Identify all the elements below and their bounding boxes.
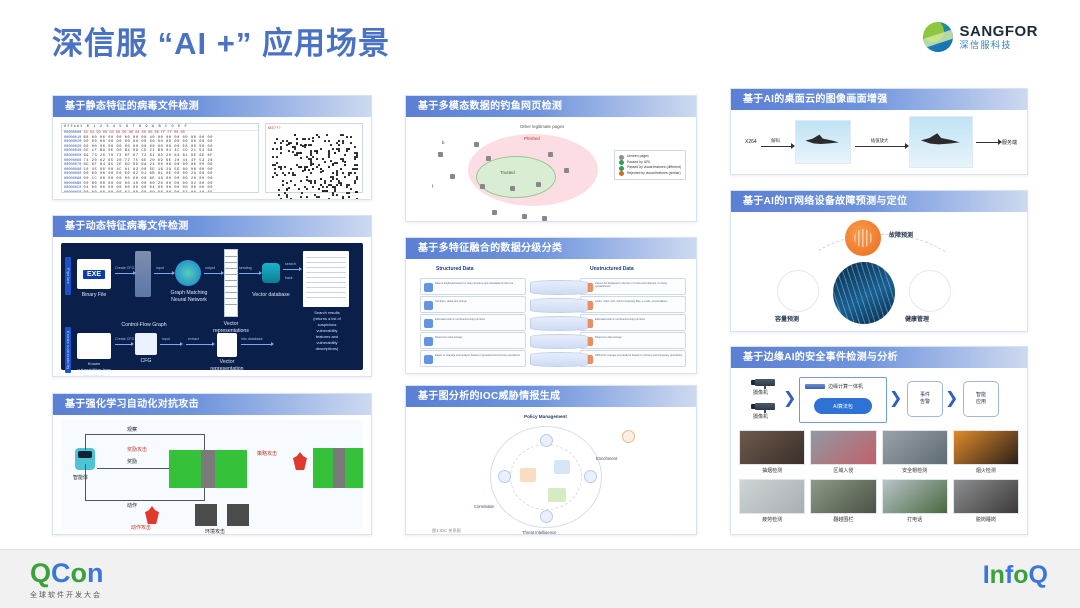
byte-dot: [274, 142, 276, 144]
known-vuln-label: Known vulnerabilities from the internet: [67, 361, 121, 376]
data-cylinder: [530, 334, 588, 349]
byte-dot: [348, 148, 350, 150]
byte-dot: [306, 176, 308, 178]
panel-ioc-graph: 基于图分析的IOC威胁情报生成 Policy Management Correl…: [405, 385, 697, 535]
scenario-cell[interactable]: 疲劳检测: [739, 479, 805, 523]
arrow-extract: [186, 344, 212, 345]
byte-dot: [280, 148, 282, 150]
byte-dot: [294, 134, 296, 136]
byte-dot: [334, 152, 336, 154]
byte-dot: [332, 178, 334, 180]
byte-dot: [276, 148, 278, 150]
byte-dot: [272, 176, 274, 178]
scenario-caption: 抽烟检测: [739, 467, 805, 474]
byte-dot: [274, 168, 276, 170]
byte-dot: [300, 157, 302, 159]
byte-dot: [336, 162, 338, 164]
observe-line-top: [85, 434, 205, 435]
panel-phishing-title: 基于多模态数据的钓鱼网页检测: [406, 96, 696, 117]
ioc-node: [540, 510, 553, 523]
byte-dot: [296, 152, 298, 154]
byte-dot: [320, 148, 322, 150]
byte-dot: [320, 178, 322, 180]
byte-dot: [356, 198, 358, 199]
byte-dot: [294, 184, 296, 186]
byte-dot: [320, 168, 322, 170]
health-management-label: 健康管理: [905, 314, 929, 323]
enhanced-frame-image: [909, 116, 974, 168]
byte-dot: [286, 182, 288, 184]
byte-dot: [348, 174, 350, 176]
byte-dot: [328, 140, 330, 142]
byte-dot: [298, 188, 300, 190]
trusted-label: Trusted: [500, 170, 515, 175]
byte-dot: [314, 194, 316, 196]
byte-dot: [336, 172, 338, 174]
unstructured-data-header: Unstructured Data: [590, 266, 634, 272]
byte-dot: [328, 198, 330, 199]
page-node: [438, 152, 443, 157]
ioc-chip-blue: [554, 460, 570, 474]
exe-file-icon: EXE: [77, 259, 111, 289]
byte-dot: [340, 158, 342, 160]
panel-edge-ai: 基于边缘AI的安全事件检测与分析 摄像机 摄像机 ❯ 边缘计算一体机 AI算法包…: [730, 346, 1028, 535]
structured-item: Estimated with an enhanced entity-primit…: [420, 314, 526, 331]
byte-dot: [332, 194, 334, 196]
edge-device-icon: [805, 384, 825, 389]
byte-dot: [282, 140, 284, 142]
panel-image-enhance: 基于AI的桌面云的图像画面增强 X264 解码 插值放大: [730, 88, 1028, 175]
edge-label-extract: extract: [188, 337, 199, 341]
edge-label-create-cfg-top: Create CFG: [115, 266, 134, 270]
byte-dot: [356, 176, 358, 178]
byte-dot: [348, 184, 350, 186]
page-node: [536, 182, 541, 187]
footer: QCon 全球软件开发大会 InfoQ: [0, 549, 1080, 608]
camera-1-label: 摄像机: [753, 389, 768, 396]
byte-dot: [294, 154, 296, 156]
byte-pattern-plot: MZ???: [265, 123, 363, 193]
byte-dot: [312, 137, 314, 139]
byte-dot: [286, 196, 288, 198]
observe-label: 观察: [127, 426, 137, 433]
byte-dot: [272, 148, 274, 150]
byte-dot: [286, 194, 288, 196]
byte-dot: [310, 150, 312, 152]
item-text: Numbers, dates and strings: [435, 300, 523, 303]
adv-frame-right: [345, 448, 363, 488]
policy-management-label: Policy Management: [524, 414, 567, 419]
byte-dot: [354, 146, 356, 148]
byte-dot: [280, 152, 282, 154]
reward-label: 奖励: [127, 458, 137, 465]
item-text: Cannot be displayed in the form of rows …: [595, 282, 683, 289]
byte-dot: [284, 166, 286, 168]
byte-dot: [286, 140, 288, 142]
byte-dot: [344, 164, 346, 166]
data-cylinder: [530, 298, 588, 313]
byte-dot: [342, 134, 344, 136]
observe-line-right: [204, 434, 205, 450]
byte-dot: [354, 164, 356, 166]
byte-dot: [336, 174, 338, 176]
data-classification-diagram: Structured Data Unstructured Data Data i…: [414, 264, 688, 368]
byte-dot: [312, 163, 314, 165]
action-line-left: [85, 464, 86, 500]
byte-dot: [280, 142, 282, 144]
legend-item: Rejected by visual features (similar): [619, 171, 681, 177]
page-node: [492, 210, 497, 215]
trusted-region: [476, 156, 556, 198]
byte-dot: [332, 192, 334, 194]
gmnn-label: Graph Matching Neural Network: [165, 290, 213, 304]
byte-dot: [330, 184, 332, 186]
chevron-right-icon: ❯: [889, 391, 902, 407]
qcon-logo: QCon 全球软件开发大会: [30, 560, 104, 600]
ioc-caption: 图1:IOC 关系图: [432, 528, 461, 534]
byte-dot: [310, 144, 312, 146]
byte-dot: [344, 154, 346, 156]
byte-dot: [332, 176, 334, 178]
smart-app-box: 智能 应用: [963, 381, 999, 417]
byte-dot: [324, 180, 326, 182]
action-line-bottom: [85, 500, 205, 501]
action-attack-label: 动作攻击: [131, 524, 151, 531]
byte-dot: [354, 180, 356, 182]
byte-dot: [322, 190, 324, 192]
byte-dot: [344, 161, 346, 163]
byte-dot: [356, 178, 358, 180]
logo-en-text: SANGFOR: [960, 24, 1039, 39]
byte-dot: [326, 190, 328, 192]
scenario-thumbnail: [882, 479, 948, 514]
item-text: Difficult to manage and analyze based on…: [595, 354, 683, 357]
scenario-cell[interactable]: 区域入侵: [810, 430, 876, 474]
byte-dot: [332, 163, 334, 165]
item-icon: [424, 301, 433, 310]
page-node: [548, 152, 553, 157]
unstructured-item: Cannot be displayed in the form of rows …: [580, 278, 686, 295]
server-label: 服务端: [1002, 139, 1017, 146]
health-management-icon: [909, 270, 951, 312]
control-flow-graph-icon: [135, 251, 151, 297]
byte-dot: [310, 158, 312, 160]
arrow-into-database: [241, 344, 271, 345]
arrow-server: [976, 142, 998, 143]
scenario-thumbnail: [810, 479, 876, 514]
byte-dot: [290, 198, 292, 199]
scenario-thumbnail: [810, 430, 876, 465]
qcon-subtitle: 全球软件开发大会: [30, 590, 104, 600]
data-cylinder: [530, 316, 588, 331]
byte-dot: [300, 196, 302, 198]
byte-dot: [301, 192, 303, 194]
byte-dot: [338, 144, 340, 146]
byte-dot: [342, 158, 344, 160]
event-alarm-box: 事件 告警: [907, 381, 943, 417]
structured-item: Response rates storage: [420, 332, 526, 349]
bird-shape: [921, 132, 960, 152]
vector-representations-icon: [224, 249, 238, 317]
byte-dot: [296, 138, 298, 140]
byte-dot: [282, 172, 284, 174]
byte-dot: [346, 136, 348, 138]
byte-dot: [304, 146, 306, 148]
byte-dot: [336, 142, 338, 144]
byte-dot: [288, 142, 290, 144]
byte-dot: [294, 174, 296, 176]
byte-dot: [340, 184, 342, 186]
scenario-cell[interactable]: 抽烟检测: [739, 430, 805, 474]
ioc-graph-diagram: Policy Management Correlation Enrichment…: [414, 412, 688, 529]
edge-label-into-database: into database: [241, 337, 263, 341]
byte-dot: [282, 180, 284, 182]
decode-label: 解码: [761, 138, 791, 144]
scenario-thumbnail: [739, 479, 805, 514]
byte-dot: [296, 154, 298, 156]
qcon-wordmark: QCon: [30, 560, 104, 587]
byte-dot: [280, 198, 282, 199]
byte-dot: [278, 189, 280, 191]
scenario-thumbnail: [739, 430, 805, 465]
edge-label-search: search: [285, 262, 296, 266]
page-node: [486, 156, 491, 161]
reward-attack-label: 奖励攻击: [127, 446, 147, 453]
node-marker-f: f: [432, 184, 433, 189]
scenario-caption: 疲劳检测: [739, 516, 805, 523]
arrow-input-top: [154, 273, 172, 274]
item-text: Data is displayed based on body structur…: [435, 282, 523, 285]
cfg-bottom-label: CFG: [133, 358, 159, 365]
byte-dot: [316, 196, 318, 198]
panel-rl-attack: 基于强化学习自动化对抗攻击 智能体 观察 奖励攻击 奖励 动作: [52, 393, 372, 535]
byte-dot: [320, 184, 322, 186]
byte-dot: [312, 156, 314, 158]
byte-dot: [348, 196, 350, 198]
item-text: Estimated with an enhanced entity-primit…: [595, 318, 683, 321]
scenario-cell[interactable]: 脱岗睡岗: [953, 479, 1019, 523]
byte-dot: [276, 156, 278, 158]
byte-dot: [294, 148, 296, 150]
fault-prediction-label: 故障预测: [889, 230, 913, 239]
threat-intelligence-label: Threat Intelligence: [522, 530, 556, 534]
unstructured-item: Audio, video, text, word processing file…: [580, 296, 686, 313]
byte-dot: [282, 184, 284, 186]
panel-rl-attack-title: 基于强化学习自动化对抗攻击: [53, 394, 371, 415]
camera-2-label: 摄像机: [753, 413, 768, 420]
byte-dot: [328, 152, 330, 154]
item-text: Response data storage: [595, 336, 683, 339]
scenario-cell[interactable]: 翻越围栏: [810, 479, 876, 523]
byte-dot: [350, 172, 352, 174]
byte-dot: [276, 174, 278, 176]
adv-frame-left: [313, 448, 333, 488]
byte-dot: [340, 134, 342, 136]
vector-database-icon: [262, 263, 280, 283]
correlation-label: Correlation: [474, 504, 494, 509]
control-flow-graph-label: Control-Flow Graph: [121, 322, 167, 329]
arrow-output: [204, 273, 221, 274]
byte-dot: [356, 152, 358, 154]
ioc-node: [584, 470, 597, 483]
scenario-cell[interactable]: 烟火检测: [953, 430, 1019, 474]
item-text: Estimated with an enhanced entity-primit…: [435, 318, 523, 321]
byte-dot: [304, 169, 306, 171]
panel-image-enhance-title: 基于AI的桌面云的图像画面增强: [731, 89, 1027, 110]
byte-dot: [324, 161, 326, 163]
page-node: [510, 186, 515, 191]
byte-dot: [330, 160, 332, 162]
byte-dot: [306, 179, 308, 181]
panel-dynamic-virus-title: 基于动态特征病毒文件检测: [53, 216, 371, 237]
data-cylinder: [530, 352, 588, 367]
fault-prediction-icon: [845, 220, 881, 256]
byte-dot: [312, 168, 314, 170]
arrow-upscale: [855, 146, 905, 147]
byte-dot: [332, 186, 334, 188]
known-vuln-icon: [77, 333, 111, 359]
search-results-doc-icon: [303, 251, 349, 307]
scenario-caption: 打电话: [882, 516, 948, 523]
logo-cn-text: 深信服科技: [960, 41, 1039, 50]
slide-root: 深信服 “AI +” 应用场景 SANGFOR 深信服科技 基于静态特征的病毒文…: [0, 0, 1080, 608]
hex-dump-row: 000000D0 00 A0 00 00 00 02 00 00 00 00 0…: [62, 191, 258, 193]
byte-dot: [306, 196, 308, 198]
arrow-decode: [761, 146, 791, 147]
server-rack-photo: [833, 262, 895, 324]
byte-dot: [292, 172, 294, 174]
byte-dot: [272, 156, 274, 158]
edge-label-sending: sending: [239, 266, 252, 270]
byte-dot: [338, 140, 340, 142]
phished-label: Phished: [524, 136, 540, 141]
byte-dot: [280, 168, 282, 170]
camera-icon: [751, 377, 777, 388]
byte-dot: [276, 138, 278, 140]
env-attack-label: 环境攻击: [205, 528, 225, 534]
item-text: Easier to manage and analyze based on pr…: [435, 354, 523, 357]
byte-dot: [342, 198, 344, 199]
ioc-node: [498, 470, 511, 483]
policy-attack-label: 策略攻击: [257, 450, 277, 457]
scenario-caption: 安全帽检测: [882, 467, 948, 474]
policy-attack-devil-icon: [293, 452, 307, 470]
byte-dot: [296, 164, 298, 166]
byte-dot: [354, 158, 356, 160]
byte-dot: [322, 158, 324, 160]
byte-dot: [308, 169, 310, 171]
byte-dot: [300, 152, 302, 154]
env-attack-box-b: [227, 504, 249, 526]
action-label: 动作: [127, 502, 137, 509]
byte-dot: [322, 186, 324, 188]
byte-dot: [318, 196, 320, 198]
phishing-legend: Unseen pages Passed by URL Passed by vis…: [614, 150, 686, 180]
byte-dot: [350, 188, 352, 190]
byte-dot: [300, 180, 302, 182]
it-ops-diagram: 故障预测 容量预测 健康管理: [741, 218, 1017, 325]
ioc-node: [540, 434, 553, 447]
panel-dynamic-virus: 基于动态特征病毒文件检测 Pipeline Known vulnerabilit…: [52, 215, 372, 377]
byte-dot: [314, 182, 316, 184]
item-icon: [424, 283, 433, 292]
structured-item: Easier to manage and analyze based on pr…: [420, 350, 526, 367]
scenario-thumbnail: [882, 430, 948, 465]
byte-dot: [276, 162, 278, 164]
byte-dot: [340, 168, 342, 170]
byte-dot: [328, 156, 330, 158]
scenario-caption: 翻越围栏: [810, 516, 876, 523]
scenario-caption: 区域入侵: [810, 467, 876, 474]
other-legitimate-label: Other legitimate pages: [520, 124, 564, 129]
panel-static-virus: 基于静态特征的病毒文件检测 Offset 0 1 2 3 4 5 6 7 8 9…: [52, 95, 372, 200]
byte-dot: [296, 143, 298, 145]
x264-label: X264: [745, 139, 757, 145]
panel-edge-ai-title: 基于边缘AI的安全事件检测与分析: [731, 347, 1027, 368]
ioc-external-node: [622, 430, 635, 443]
arrow-search: [283, 269, 299, 270]
scenario-cell[interactable]: 打电话: [882, 479, 948, 523]
byte-dot: [346, 186, 348, 188]
byte-dot: [324, 140, 326, 142]
unstructured-item: Response data storage: [580, 332, 686, 349]
enrichment-label: Enrichment: [596, 456, 617, 461]
byte-dot: [306, 188, 308, 190]
byte-dot: [332, 172, 334, 174]
panel-it-ops-title: 基于AI的IT网络设备故障预测与定位: [731, 191, 1027, 212]
malware-pipeline-diagram: Pipeline Known vulnerability EXE Binary …: [61, 243, 363, 370]
infoq-logo: InfoQ: [983, 563, 1048, 588]
byte-dot: [326, 134, 328, 136]
page-node: [542, 216, 547, 221]
byte-dot: [328, 166, 330, 168]
action-attack-devil-icon: [145, 506, 159, 524]
scenario-grid: 抽烟检测 区域入侵 安全帽检测 烟火检测 疲劳检测: [739, 430, 1019, 523]
byte-dot: [342, 172, 344, 174]
byte-dot: [330, 144, 332, 146]
arrow-create-cfg-top: [115, 273, 133, 274]
byte-dot: [274, 172, 276, 174]
byte-dot: [310, 182, 312, 184]
edge-label-input-bottom: input: [162, 337, 170, 341]
scenario-cell[interactable]: 安全帽检测: [882, 430, 948, 474]
edge-device-box: 边缘计算一体机 AI算法包: [799, 377, 887, 423]
panel-phishing: 基于多模态数据的钓鱼网页检测 Other legitimate pages Ph…: [405, 95, 697, 222]
byte-dot: [316, 152, 318, 154]
panel-static-virus-title: 基于静态特征的病毒文件检测: [53, 96, 371, 117]
unstructured-item: Estimated with an enhanced entity-primit…: [580, 314, 686, 331]
camera-icon: [751, 401, 777, 412]
byte-dot: [310, 152, 312, 154]
env-frame-left: [169, 450, 201, 488]
panel-it-ops: 基于AI的IT网络设备故障预测与定位 故障预测 容量预测 健康管理: [730, 190, 1028, 332]
vector-representation-icon: [217, 333, 237, 357]
byte-dot: [350, 136, 352, 138]
hex-dump-view: Offset 0 1 2 3 4 5 6 7 8 9 A B C D E F 0…: [61, 123, 259, 193]
edge-device-label: 边缘计算一体机: [828, 383, 863, 390]
byte-dot: [334, 188, 336, 190]
neural-network-icon: [175, 260, 201, 286]
byte-dot: [336, 184, 338, 186]
adv-frame-center: [333, 448, 345, 488]
action-line-right: [204, 486, 205, 500]
binary-file-label: Binary File: [73, 292, 115, 299]
panel-ioc-graph-title: 基于图分析的IOC威胁情报生成: [406, 386, 696, 407]
chevron-right-icon: ❯: [945, 391, 958, 407]
bird-shape: [805, 134, 838, 151]
arrow-input-bottom: [160, 344, 180, 345]
byte-dot: [350, 142, 352, 144]
